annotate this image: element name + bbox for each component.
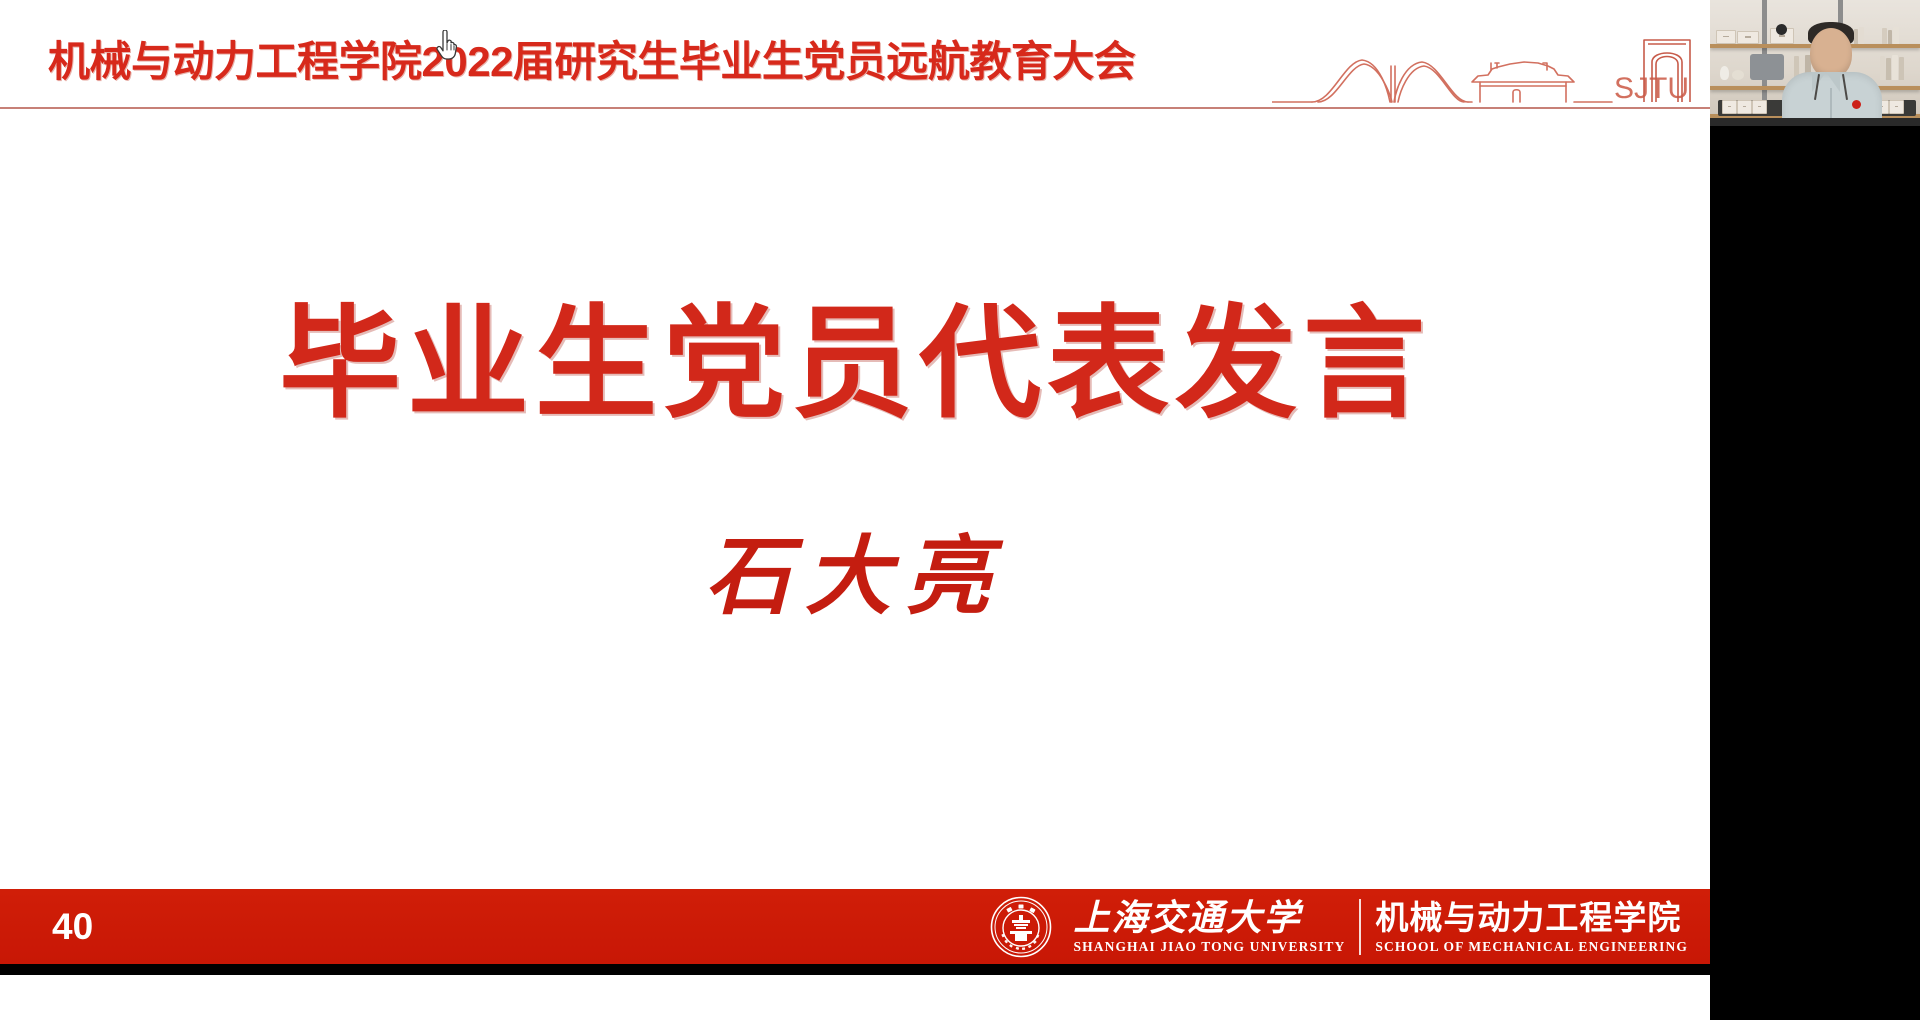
video-panel	[1710, 0, 1920, 1020]
archive-box	[1716, 30, 1736, 44]
binder	[1722, 100, 1737, 114]
monitor	[1750, 54, 1784, 80]
book	[1899, 57, 1904, 80]
presentation-screen: 机械与动力工程学院2022届研究生毕业生党员远航教育大会	[0, 0, 1920, 1020]
shirt-collar-right	[1826, 72, 1840, 92]
school-name-block: 机械与动力工程学院 SCHOOL OF MECHANICAL ENGINEERI…	[1361, 900, 1702, 954]
sjtu-campus-skyline-icon: SJTU	[1272, 22, 1692, 108]
binder	[1737, 100, 1752, 114]
slide-main-title: 毕业生党员代表发言	[0, 299, 1710, 429]
sjtu-logo-lockup: 上海交通大学 SHANGHAI JIAO TONG UNIVERSITY 机械与…	[990, 889, 1702, 964]
desk-edge	[1710, 118, 1920, 126]
slide-canvas: 机械与动力工程学院2022届研究生毕业生党员远航教育大会	[0, 0, 1710, 975]
book	[1859, 27, 1864, 44]
university-name-block: 上海交通大学 SHANGHAI JIAO TONG UNIVERSITY	[1060, 900, 1360, 954]
slide-footer-bar: 40	[0, 889, 1710, 964]
vase	[1720, 66, 1729, 80]
slide-bottom-letterbox	[0, 964, 1710, 975]
book	[1882, 28, 1887, 44]
book	[1892, 55, 1898, 80]
sjtu-university-seal-icon	[990, 896, 1052, 958]
slide-body: 毕业生党员代表发言 石大亮	[0, 109, 1710, 889]
school-name-cn: 机械与动力工程学院	[1375, 900, 1688, 936]
slide-speaker-name: 石大亮	[0, 529, 1710, 625]
wall-clock-icon	[1776, 24, 1787, 35]
binder	[1752, 100, 1767, 114]
bowl	[1732, 70, 1744, 80]
book	[1888, 30, 1892, 44]
book	[1854, 29, 1858, 44]
participant-face	[1810, 28, 1852, 78]
school-name-en: SCHOOL OF MECHANICAL ENGINEERING	[1375, 939, 1688, 954]
slide-header-title: 机械与动力工程学院2022届研究生毕业生党员远航教育大会	[48, 36, 1135, 88]
archive-box	[1737, 31, 1759, 44]
binder	[1889, 100, 1904, 114]
university-name-cn: 上海交通大学	[1074, 900, 1346, 936]
book	[1886, 58, 1891, 80]
book	[1893, 27, 1899, 44]
party-emblem-pin	[1852, 100, 1861, 109]
university-name-en: SHANGHAI JIAO TONG UNIVERSITY	[1074, 939, 1346, 954]
participant-video-tile[interactable]	[1710, 0, 1920, 126]
slide-header: 机械与动力工程学院2022届研究生毕业生党员远航教育大会	[0, 0, 1710, 109]
slide-page-number: 40	[52, 905, 93, 948]
book	[1880, 56, 1885, 80]
